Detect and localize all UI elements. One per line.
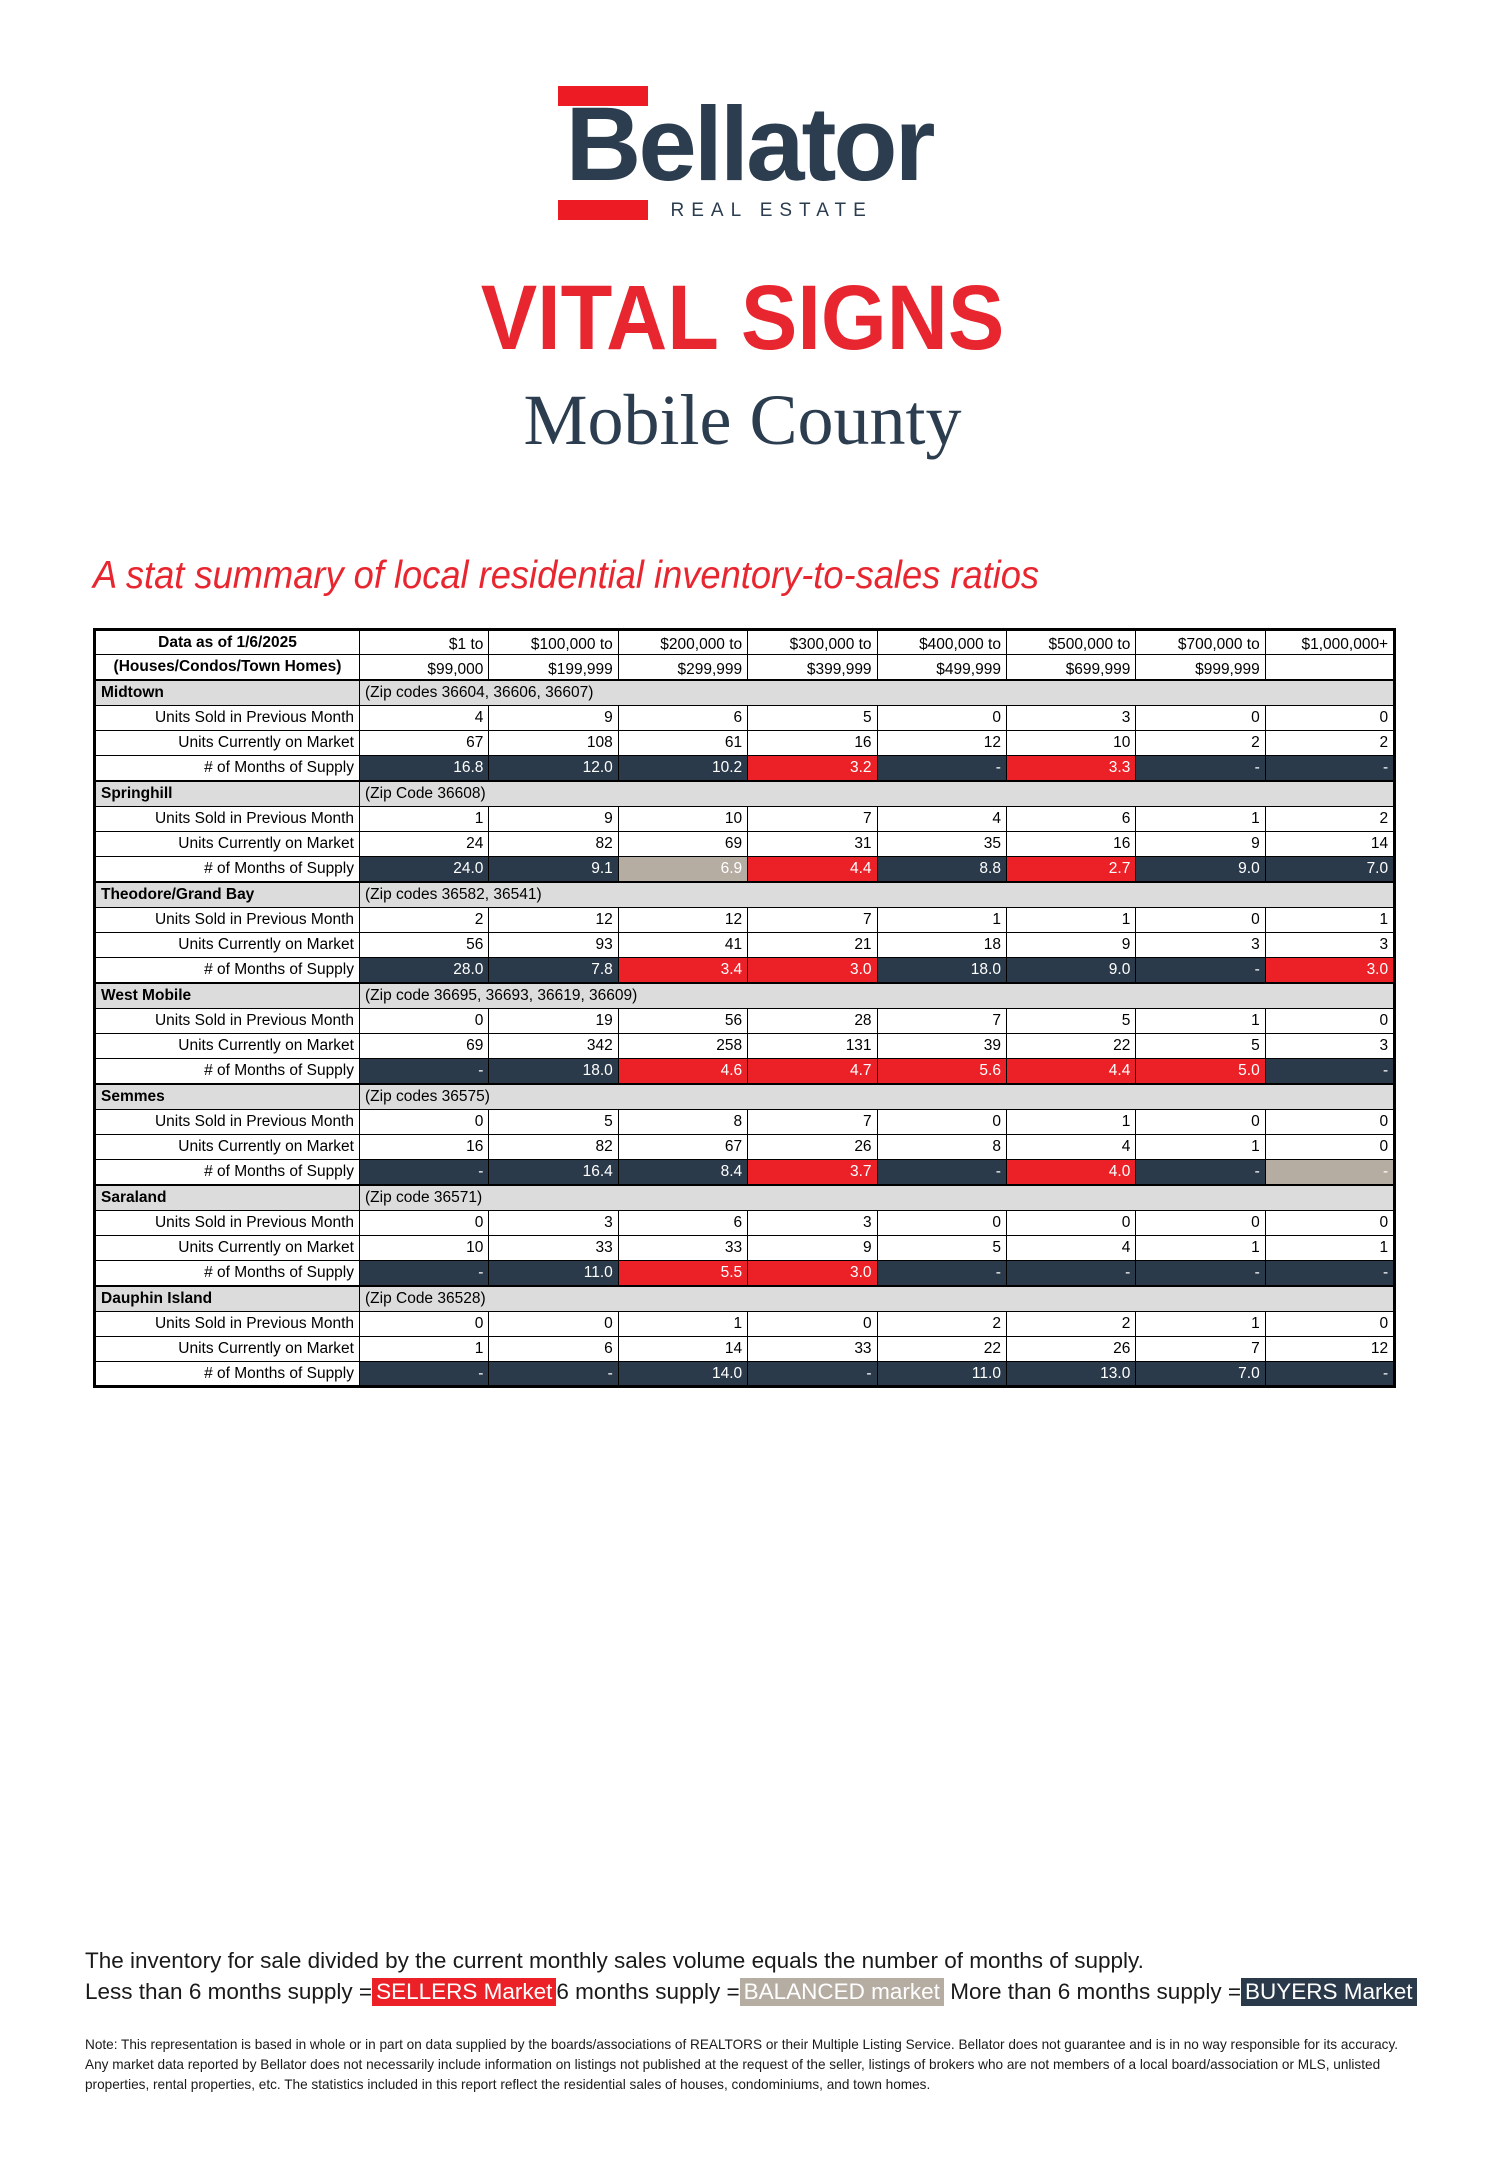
area-zip-midtown: (Zip codes 36604, 36606, 36607) bbox=[360, 680, 1395, 706]
cell-west-mobile-supply-0: - bbox=[360, 1059, 489, 1084]
cell-theodore-grand-bay-supply-4: 18.0 bbox=[877, 958, 1006, 983]
area-name-west-mobile: West Mobile bbox=[95, 983, 360, 1009]
area-header-west-mobile: West Mobile(Zip code 36695, 36693, 36619… bbox=[95, 983, 1395, 1009]
cell-springhill-sold-1: 9 bbox=[489, 807, 618, 832]
price-range-header-5-bottom: $699,999 bbox=[1006, 655, 1135, 680]
cell-west-mobile-supply-1: 18.0 bbox=[489, 1059, 618, 1084]
cell-midtown-sold-0: 4 bbox=[360, 706, 489, 731]
price-range-header-1-bottom: $199,999 bbox=[489, 655, 618, 680]
brand-name: Bellator bbox=[566, 90, 933, 200]
cell-springhill-market-7: 14 bbox=[1265, 832, 1394, 857]
cell-springhill-sold-7: 2 bbox=[1265, 807, 1394, 832]
cell-semmes-market-1: 82 bbox=[489, 1135, 618, 1160]
cell-theodore-grand-bay-market-5: 9 bbox=[1006, 933, 1135, 958]
cell-midtown-market-0: 67 bbox=[360, 731, 489, 756]
cell-theodore-grand-bay-supply-1: 7.8 bbox=[489, 958, 618, 983]
row-label-units-on-market: Units Currently on Market bbox=[95, 832, 360, 857]
cell-saraland-sold-1: 3 bbox=[489, 1211, 618, 1236]
cell-dauphin-island-market-2: 14 bbox=[618, 1337, 747, 1362]
cell-theodore-grand-bay-sold-7: 1 bbox=[1265, 908, 1394, 933]
row-label-months-of-supply: # of Months of Supply bbox=[95, 1261, 360, 1286]
cell-midtown-supply-6: - bbox=[1136, 756, 1265, 781]
cell-west-mobile-sold-1: 19 bbox=[489, 1009, 618, 1034]
vital-signs-table: Data as of 1/6/2025$1 to$100,000 to$200,… bbox=[93, 628, 1396, 1388]
legend: The inventory for sale divided by the cu… bbox=[85, 1948, 1415, 2005]
cell-springhill-supply-4: 8.8 bbox=[877, 857, 1006, 882]
area-zip-dauphin-island: (Zip Code 36528) bbox=[360, 1286, 1395, 1312]
cell-semmes-supply-0: - bbox=[360, 1160, 489, 1185]
price-range-header-3-bottom: $399,999 bbox=[748, 655, 877, 680]
cell-midtown-market-4: 12 bbox=[877, 731, 1006, 756]
area-name-springhill: Springhill bbox=[95, 781, 360, 807]
cell-west-mobile-market-5: 22 bbox=[1006, 1034, 1135, 1059]
price-range-header-2-top: $200,000 to bbox=[618, 630, 747, 655]
cell-west-mobile-sold-0: 0 bbox=[360, 1009, 489, 1034]
area-header-springhill: Springhill(Zip Code 36608) bbox=[95, 781, 1395, 807]
cell-midtown-supply-2: 10.2 bbox=[618, 756, 747, 781]
price-range-header-4-top: $400,000 to bbox=[877, 630, 1006, 655]
cell-midtown-market-2: 61 bbox=[618, 731, 747, 756]
cell-theodore-grand-bay-supply-5: 9.0 bbox=[1006, 958, 1135, 983]
cell-semmes-sold-0: 0 bbox=[360, 1110, 489, 1135]
table-row: Units Sold in Previous Month01956287510 bbox=[95, 1009, 1395, 1034]
legend-chip-buyers: BUYERS Market bbox=[1241, 1978, 1417, 2006]
cell-semmes-sold-7: 0 bbox=[1265, 1110, 1394, 1135]
area-header-midtown: Midtown(Zip codes 36604, 36606, 36607) bbox=[95, 680, 1395, 706]
row-label-units-sold: Units Sold in Previous Month bbox=[95, 1211, 360, 1236]
cell-west-mobile-sold-6: 1 bbox=[1136, 1009, 1265, 1034]
table-row: Units Sold in Previous Month03630000 bbox=[95, 1211, 1395, 1236]
logo-mark: Bellator REAL ESTATE bbox=[528, 78, 958, 228]
table-row: Units Currently on Market1614332226712 bbox=[95, 1337, 1395, 1362]
table-row: Units Sold in Previous Month191074612 bbox=[95, 807, 1395, 832]
brand-tagline: REAL ESTATE bbox=[671, 200, 873, 222]
cell-theodore-grand-bay-sold-1: 12 bbox=[489, 908, 618, 933]
cell-semmes-sold-6: 0 bbox=[1136, 1110, 1265, 1135]
price-range-header-0-top: $1 to bbox=[360, 630, 489, 655]
cell-dauphin-island-sold-3: 0 bbox=[748, 1312, 877, 1337]
area-zip-theodore-grand-bay: (Zip codes 36582, 36541) bbox=[360, 882, 1395, 908]
cell-west-mobile-market-0: 69 bbox=[360, 1034, 489, 1059]
row-label-units-sold: Units Sold in Previous Month bbox=[95, 1312, 360, 1337]
price-range-header-7-top: $1,000,000+ bbox=[1265, 630, 1394, 655]
property-types-label: (Houses/Condos/Town Homes) bbox=[95, 655, 360, 680]
row-label-units-on-market: Units Currently on Market bbox=[95, 731, 360, 756]
cell-saraland-supply-3: 3.0 bbox=[748, 1261, 877, 1286]
page-title: VITAL SIGNS bbox=[59, 266, 1425, 371]
cell-midtown-market-3: 16 bbox=[748, 731, 877, 756]
cell-midtown-market-7: 2 bbox=[1265, 731, 1394, 756]
row-label-months-of-supply: # of Months of Supply bbox=[95, 756, 360, 781]
row-label-units-sold: Units Sold in Previous Month bbox=[95, 908, 360, 933]
cell-west-mobile-sold-2: 56 bbox=[618, 1009, 747, 1034]
cell-west-mobile-sold-3: 28 bbox=[748, 1009, 877, 1034]
row-label-units-on-market: Units Currently on Market bbox=[95, 1135, 360, 1160]
cell-west-mobile-market-4: 39 bbox=[877, 1034, 1006, 1059]
area-name-midtown: Midtown bbox=[95, 680, 360, 706]
cell-semmes-market-4: 8 bbox=[877, 1135, 1006, 1160]
cell-springhill-market-0: 24 bbox=[360, 832, 489, 857]
cell-saraland-market-5: 4 bbox=[1006, 1236, 1135, 1261]
area-zip-west-mobile: (Zip code 36695, 36693, 36619, 36609) bbox=[360, 983, 1395, 1009]
cell-saraland-market-0: 10 bbox=[360, 1236, 489, 1261]
row-label-units-sold: Units Sold in Previous Month bbox=[95, 807, 360, 832]
price-range-header-4-bottom: $499,999 bbox=[877, 655, 1006, 680]
cell-saraland-market-2: 33 bbox=[618, 1236, 747, 1261]
table-row: # of Months of Supply-11.05.53.0---- bbox=[95, 1261, 1395, 1286]
cell-semmes-supply-4: - bbox=[877, 1160, 1006, 1185]
cell-west-mobile-supply-7: - bbox=[1265, 1059, 1394, 1084]
cell-saraland-market-1: 33 bbox=[489, 1236, 618, 1261]
price-range-header-6-bottom: $999,999 bbox=[1136, 655, 1265, 680]
legend-equal-label: 6 months supply = bbox=[556, 1979, 739, 2004]
cell-dauphin-island-sold-6: 1 bbox=[1136, 1312, 1265, 1337]
cell-west-mobile-market-2: 258 bbox=[618, 1034, 747, 1059]
cell-dauphin-island-supply-6: 7.0 bbox=[1136, 1362, 1265, 1387]
cell-semmes-sold-2: 8 bbox=[618, 1110, 747, 1135]
cell-dauphin-island-sold-2: 1 bbox=[618, 1312, 747, 1337]
cell-west-mobile-supply-4: 5.6 bbox=[877, 1059, 1006, 1084]
legend-definition: The inventory for sale divided by the cu… bbox=[85, 1948, 1415, 1974]
area-zip-springhill: (Zip Code 36608) bbox=[360, 781, 1395, 807]
cell-semmes-sold-3: 7 bbox=[748, 1110, 877, 1135]
cell-springhill-market-5: 16 bbox=[1006, 832, 1135, 857]
table-row: Units Currently on Market693422581313922… bbox=[95, 1034, 1395, 1059]
cell-springhill-supply-0: 24.0 bbox=[360, 857, 489, 882]
cell-midtown-supply-5: 3.3 bbox=[1006, 756, 1135, 781]
cell-springhill-market-4: 35 bbox=[877, 832, 1006, 857]
cell-west-mobile-sold-4: 7 bbox=[877, 1009, 1006, 1034]
area-header-saraland: Saraland(Zip code 36571) bbox=[95, 1185, 1395, 1211]
cell-dauphin-island-market-5: 26 bbox=[1006, 1337, 1135, 1362]
brand-logo: Bellator REAL ESTATE bbox=[0, 0, 1485, 228]
cell-theodore-grand-bay-supply-0: 28.0 bbox=[360, 958, 489, 983]
cell-springhill-market-2: 69 bbox=[618, 832, 747, 857]
cell-springhill-supply-3: 4.4 bbox=[748, 857, 877, 882]
cell-dauphin-island-market-3: 33 bbox=[748, 1337, 877, 1362]
table-row: Units Currently on Market168267268410 bbox=[95, 1135, 1395, 1160]
table-row: Units Sold in Previous Month00102210 bbox=[95, 1312, 1395, 1337]
cell-dauphin-island-market-1: 6 bbox=[489, 1337, 618, 1362]
cell-springhill-supply-6: 9.0 bbox=[1136, 857, 1265, 882]
cell-theodore-grand-bay-supply-7: 3.0 bbox=[1265, 958, 1394, 983]
cell-springhill-supply-5: 2.7 bbox=[1006, 857, 1135, 882]
cell-saraland-sold-5: 0 bbox=[1006, 1211, 1135, 1236]
cell-midtown-sold-3: 5 bbox=[748, 706, 877, 731]
cell-saraland-market-7: 1 bbox=[1265, 1236, 1394, 1261]
cell-saraland-market-3: 9 bbox=[748, 1236, 877, 1261]
legend-less-than-label: Less than 6 months supply = bbox=[85, 1979, 372, 2004]
cell-saraland-supply-5: - bbox=[1006, 1261, 1135, 1286]
cell-midtown-market-1: 108 bbox=[489, 731, 618, 756]
cell-saraland-sold-0: 0 bbox=[360, 1211, 489, 1236]
cell-west-mobile-market-6: 5 bbox=[1136, 1034, 1265, 1059]
cell-midtown-supply-4: - bbox=[877, 756, 1006, 781]
cell-midtown-supply-1: 12.0 bbox=[489, 756, 618, 781]
page-subtitle-county: Mobile County bbox=[0, 379, 1485, 462]
table-header-row-top: Data as of 1/6/2025$1 to$100,000 to$200,… bbox=[95, 630, 1395, 655]
table-row: # of Months of Supply28.07.83.43.018.09.… bbox=[95, 958, 1395, 983]
cell-springhill-supply-1: 9.1 bbox=[489, 857, 618, 882]
cell-saraland-supply-1: 11.0 bbox=[489, 1261, 618, 1286]
cell-dauphin-island-sold-7: 0 bbox=[1265, 1312, 1394, 1337]
cell-midtown-sold-7: 0 bbox=[1265, 706, 1394, 731]
legend-chip-sellers: SELLERS Market bbox=[372, 1978, 556, 2006]
cell-semmes-market-0: 16 bbox=[360, 1135, 489, 1160]
cell-springhill-sold-5: 6 bbox=[1006, 807, 1135, 832]
cell-midtown-sold-2: 6 bbox=[618, 706, 747, 731]
area-name-theodore-grand-bay: Theodore/Grand Bay bbox=[95, 882, 360, 908]
area-name-saraland: Saraland bbox=[95, 1185, 360, 1211]
cell-dauphin-island-sold-4: 2 bbox=[877, 1312, 1006, 1337]
area-name-dauphin-island: Dauphin Island bbox=[95, 1286, 360, 1312]
cell-saraland-sold-3: 3 bbox=[748, 1211, 877, 1236]
cell-theodore-grand-bay-market-4: 18 bbox=[877, 933, 1006, 958]
price-range-header-5-top: $500,000 to bbox=[1006, 630, 1135, 655]
cell-theodore-grand-bay-supply-6: - bbox=[1136, 958, 1265, 983]
table-row: Units Currently on Market671086116121022 bbox=[95, 731, 1395, 756]
cell-semmes-sold-4: 0 bbox=[877, 1110, 1006, 1135]
logo-bar-bottom-icon bbox=[558, 200, 648, 220]
cell-springhill-sold-2: 10 bbox=[618, 807, 747, 832]
row-label-units-sold: Units Sold in Previous Month bbox=[95, 706, 360, 731]
table-row: # of Months of Supply24.09.16.94.48.82.7… bbox=[95, 857, 1395, 882]
cell-semmes-supply-1: 16.4 bbox=[489, 1160, 618, 1185]
price-range-header-1-top: $100,000 to bbox=[489, 630, 618, 655]
cell-west-mobile-supply-5: 4.4 bbox=[1006, 1059, 1135, 1084]
table-row: Units Sold in Previous Month49650300 bbox=[95, 706, 1395, 731]
cell-saraland-supply-6: - bbox=[1136, 1261, 1265, 1286]
cell-dauphin-island-sold-0: 0 bbox=[360, 1312, 489, 1337]
cell-midtown-sold-1: 9 bbox=[489, 706, 618, 731]
cell-west-mobile-supply-2: 4.6 bbox=[618, 1059, 747, 1084]
cell-saraland-supply-4: - bbox=[877, 1261, 1006, 1286]
cell-west-mobile-market-1: 342 bbox=[489, 1034, 618, 1059]
cell-theodore-grand-bay-supply-2: 3.4 bbox=[618, 958, 747, 983]
area-zip-saraland: (Zip code 36571) bbox=[360, 1185, 1395, 1211]
cell-midtown-sold-6: 0 bbox=[1136, 706, 1265, 731]
cell-saraland-market-4: 5 bbox=[877, 1236, 1006, 1261]
row-label-units-on-market: Units Currently on Market bbox=[95, 1236, 360, 1261]
page-description: A stat summary of local residential inve… bbox=[0, 554, 1381, 598]
cell-saraland-supply-2: 5.5 bbox=[618, 1261, 747, 1286]
cell-dauphin-island-supply-4: 11.0 bbox=[877, 1362, 1006, 1387]
vital-signs-table-wrap: Data as of 1/6/2025$1 to$100,000 to$200,… bbox=[0, 628, 1485, 1388]
cell-midtown-supply-3: 3.2 bbox=[748, 756, 877, 781]
table-row: Units Sold in Previous Month2121271101 bbox=[95, 908, 1395, 933]
price-range-header-0-bottom: $99,000 bbox=[360, 655, 489, 680]
row-label-units-sold: Units Sold in Previous Month bbox=[95, 1110, 360, 1135]
cell-saraland-supply-7: - bbox=[1265, 1261, 1394, 1286]
cell-dauphin-island-market-0: 1 bbox=[360, 1337, 489, 1362]
cell-theodore-grand-bay-market-3: 21 bbox=[748, 933, 877, 958]
cell-springhill-sold-0: 1 bbox=[360, 807, 489, 832]
price-range-header-2-bottom: $299,999 bbox=[618, 655, 747, 680]
cell-dauphin-island-supply-1: - bbox=[489, 1362, 618, 1387]
cell-midtown-supply-0: 16.8 bbox=[360, 756, 489, 781]
cell-saraland-sold-7: 0 bbox=[1265, 1211, 1394, 1236]
cell-semmes-sold-1: 5 bbox=[489, 1110, 618, 1135]
cell-springhill-supply-7: 7.0 bbox=[1265, 857, 1394, 882]
table-header-row-bottom: (Houses/Condos/Town Homes)$99,000$199,99… bbox=[95, 655, 1395, 680]
area-zip-semmes: (Zip codes 36575) bbox=[360, 1084, 1395, 1110]
cell-dauphin-island-market-6: 7 bbox=[1136, 1337, 1265, 1362]
cell-semmes-supply-2: 8.4 bbox=[618, 1160, 747, 1185]
area-name-semmes: Semmes bbox=[95, 1084, 360, 1110]
legend-more-than-label: More than 6 months supply = bbox=[950, 1979, 1241, 2004]
row-label-units-on-market: Units Currently on Market bbox=[95, 933, 360, 958]
price-range-header-6-top: $700,000 to bbox=[1136, 630, 1265, 655]
table-row: Units Currently on Market248269313516914 bbox=[95, 832, 1395, 857]
table-row: Units Sold in Previous Month05870100 bbox=[95, 1110, 1395, 1135]
price-range-header-7-bottom bbox=[1265, 655, 1394, 680]
cell-dauphin-island-supply-2: 14.0 bbox=[618, 1362, 747, 1387]
cell-west-mobile-sold-5: 5 bbox=[1006, 1009, 1135, 1034]
cell-dauphin-island-supply-3: - bbox=[748, 1362, 877, 1387]
cell-midtown-sold-5: 3 bbox=[1006, 706, 1135, 731]
cell-west-mobile-supply-6: 5.0 bbox=[1136, 1059, 1265, 1084]
cell-springhill-market-1: 82 bbox=[489, 832, 618, 857]
cell-west-mobile-market-7: 3 bbox=[1265, 1034, 1394, 1059]
row-label-months-of-supply: # of Months of Supply bbox=[95, 1160, 360, 1185]
area-header-semmes: Semmes(Zip codes 36575) bbox=[95, 1084, 1395, 1110]
cell-dauphin-island-supply-0: - bbox=[360, 1362, 489, 1387]
cell-west-mobile-market-3: 131 bbox=[748, 1034, 877, 1059]
cell-semmes-market-7: 0 bbox=[1265, 1135, 1394, 1160]
cell-semmes-supply-6: - bbox=[1136, 1160, 1265, 1185]
table-row: Units Currently on Market10333395411 bbox=[95, 1236, 1395, 1261]
cell-dauphin-island-market-7: 12 bbox=[1265, 1337, 1394, 1362]
cell-semmes-supply-5: 4.0 bbox=[1006, 1160, 1135, 1185]
row-label-months-of-supply: # of Months of Supply bbox=[95, 1059, 360, 1084]
cell-saraland-sold-2: 6 bbox=[618, 1211, 747, 1236]
cell-dauphin-island-sold-1: 0 bbox=[489, 1312, 618, 1337]
cell-midtown-market-6: 2 bbox=[1136, 731, 1265, 756]
cell-dauphin-island-sold-5: 2 bbox=[1006, 1312, 1135, 1337]
cell-theodore-grand-bay-sold-4: 1 bbox=[877, 908, 1006, 933]
legend-chip-balanced: BALANCED market bbox=[740, 1978, 944, 2006]
price-range-header-3-top: $300,000 to bbox=[748, 630, 877, 655]
area-header-dauphin-island: Dauphin Island(Zip Code 36528) bbox=[95, 1286, 1395, 1312]
cell-springhill-supply-2: 6.9 bbox=[618, 857, 747, 882]
cell-west-mobile-supply-3: 4.7 bbox=[748, 1059, 877, 1084]
row-label-months-of-supply: # of Months of Supply bbox=[95, 958, 360, 983]
cell-theodore-grand-bay-market-6: 3 bbox=[1136, 933, 1265, 958]
cell-semmes-supply-7: - bbox=[1265, 1160, 1394, 1185]
cell-springhill-sold-6: 1 bbox=[1136, 807, 1265, 832]
disclaimer-note: Note: This representation is based in wh… bbox=[85, 2035, 1405, 2095]
legend-market-types: Less than 6 months supply =SELLERS Marke… bbox=[85, 1979, 1415, 2005]
cell-west-mobile-sold-7: 0 bbox=[1265, 1009, 1394, 1034]
table-row: Units Currently on Market5693412118933 bbox=[95, 933, 1395, 958]
cell-saraland-sold-4: 0 bbox=[877, 1211, 1006, 1236]
area-header-theodore-grand-bay: Theodore/Grand Bay(Zip codes 36582, 3654… bbox=[95, 882, 1395, 908]
cell-semmes-market-3: 26 bbox=[748, 1135, 877, 1160]
cell-springhill-market-3: 31 bbox=[748, 832, 877, 857]
cell-saraland-sold-6: 0 bbox=[1136, 1211, 1265, 1236]
table-row: # of Months of Supply--14.0-11.013.07.0- bbox=[95, 1362, 1395, 1387]
cell-theodore-grand-bay-sold-6: 0 bbox=[1136, 908, 1265, 933]
cell-dauphin-island-supply-7: - bbox=[1265, 1362, 1394, 1387]
cell-theodore-grand-bay-sold-3: 7 bbox=[748, 908, 877, 933]
cell-theodore-grand-bay-market-1: 93 bbox=[489, 933, 618, 958]
cell-semmes-market-5: 4 bbox=[1006, 1135, 1135, 1160]
cell-dauphin-island-market-4: 22 bbox=[877, 1337, 1006, 1362]
cell-semmes-market-2: 67 bbox=[618, 1135, 747, 1160]
table-row: # of Months of Supply-18.04.64.75.64.45.… bbox=[95, 1059, 1395, 1084]
row-label-units-on-market: Units Currently on Market bbox=[95, 1337, 360, 1362]
table-row: # of Months of Supply16.812.010.23.2-3.3… bbox=[95, 756, 1395, 781]
row-label-months-of-supply: # of Months of Supply bbox=[95, 857, 360, 882]
cell-semmes-market-6: 1 bbox=[1136, 1135, 1265, 1160]
cell-midtown-sold-4: 0 bbox=[877, 706, 1006, 731]
row-label-months-of-supply: # of Months of Supply bbox=[95, 1362, 360, 1387]
row-label-units-on-market: Units Currently on Market bbox=[95, 1034, 360, 1059]
cell-saraland-market-6: 1 bbox=[1136, 1236, 1265, 1261]
cell-semmes-sold-5: 1 bbox=[1006, 1110, 1135, 1135]
cell-midtown-supply-7: - bbox=[1265, 756, 1394, 781]
table-row: # of Months of Supply-16.48.43.7-4.0-- bbox=[95, 1160, 1395, 1185]
cell-springhill-sold-4: 4 bbox=[877, 807, 1006, 832]
cell-midtown-market-5: 10 bbox=[1006, 731, 1135, 756]
cell-springhill-market-6: 9 bbox=[1136, 832, 1265, 857]
cell-springhill-sold-3: 7 bbox=[748, 807, 877, 832]
cell-theodore-grand-bay-market-7: 3 bbox=[1265, 933, 1394, 958]
cell-semmes-supply-3: 3.7 bbox=[748, 1160, 877, 1185]
cell-theodore-grand-bay-sold-5: 1 bbox=[1006, 908, 1135, 933]
cell-dauphin-island-supply-5: 13.0 bbox=[1006, 1362, 1135, 1387]
cell-saraland-supply-0: - bbox=[360, 1261, 489, 1286]
cell-theodore-grand-bay-supply-3: 3.0 bbox=[748, 958, 877, 983]
cell-theodore-grand-bay-market-0: 56 bbox=[360, 933, 489, 958]
row-label-units-sold: Units Sold in Previous Month bbox=[95, 1009, 360, 1034]
data-as-of-label: Data as of 1/6/2025 bbox=[95, 630, 360, 655]
cell-theodore-grand-bay-market-2: 41 bbox=[618, 933, 747, 958]
cell-theodore-grand-bay-sold-2: 12 bbox=[618, 908, 747, 933]
cell-theodore-grand-bay-sold-0: 2 bbox=[360, 908, 489, 933]
